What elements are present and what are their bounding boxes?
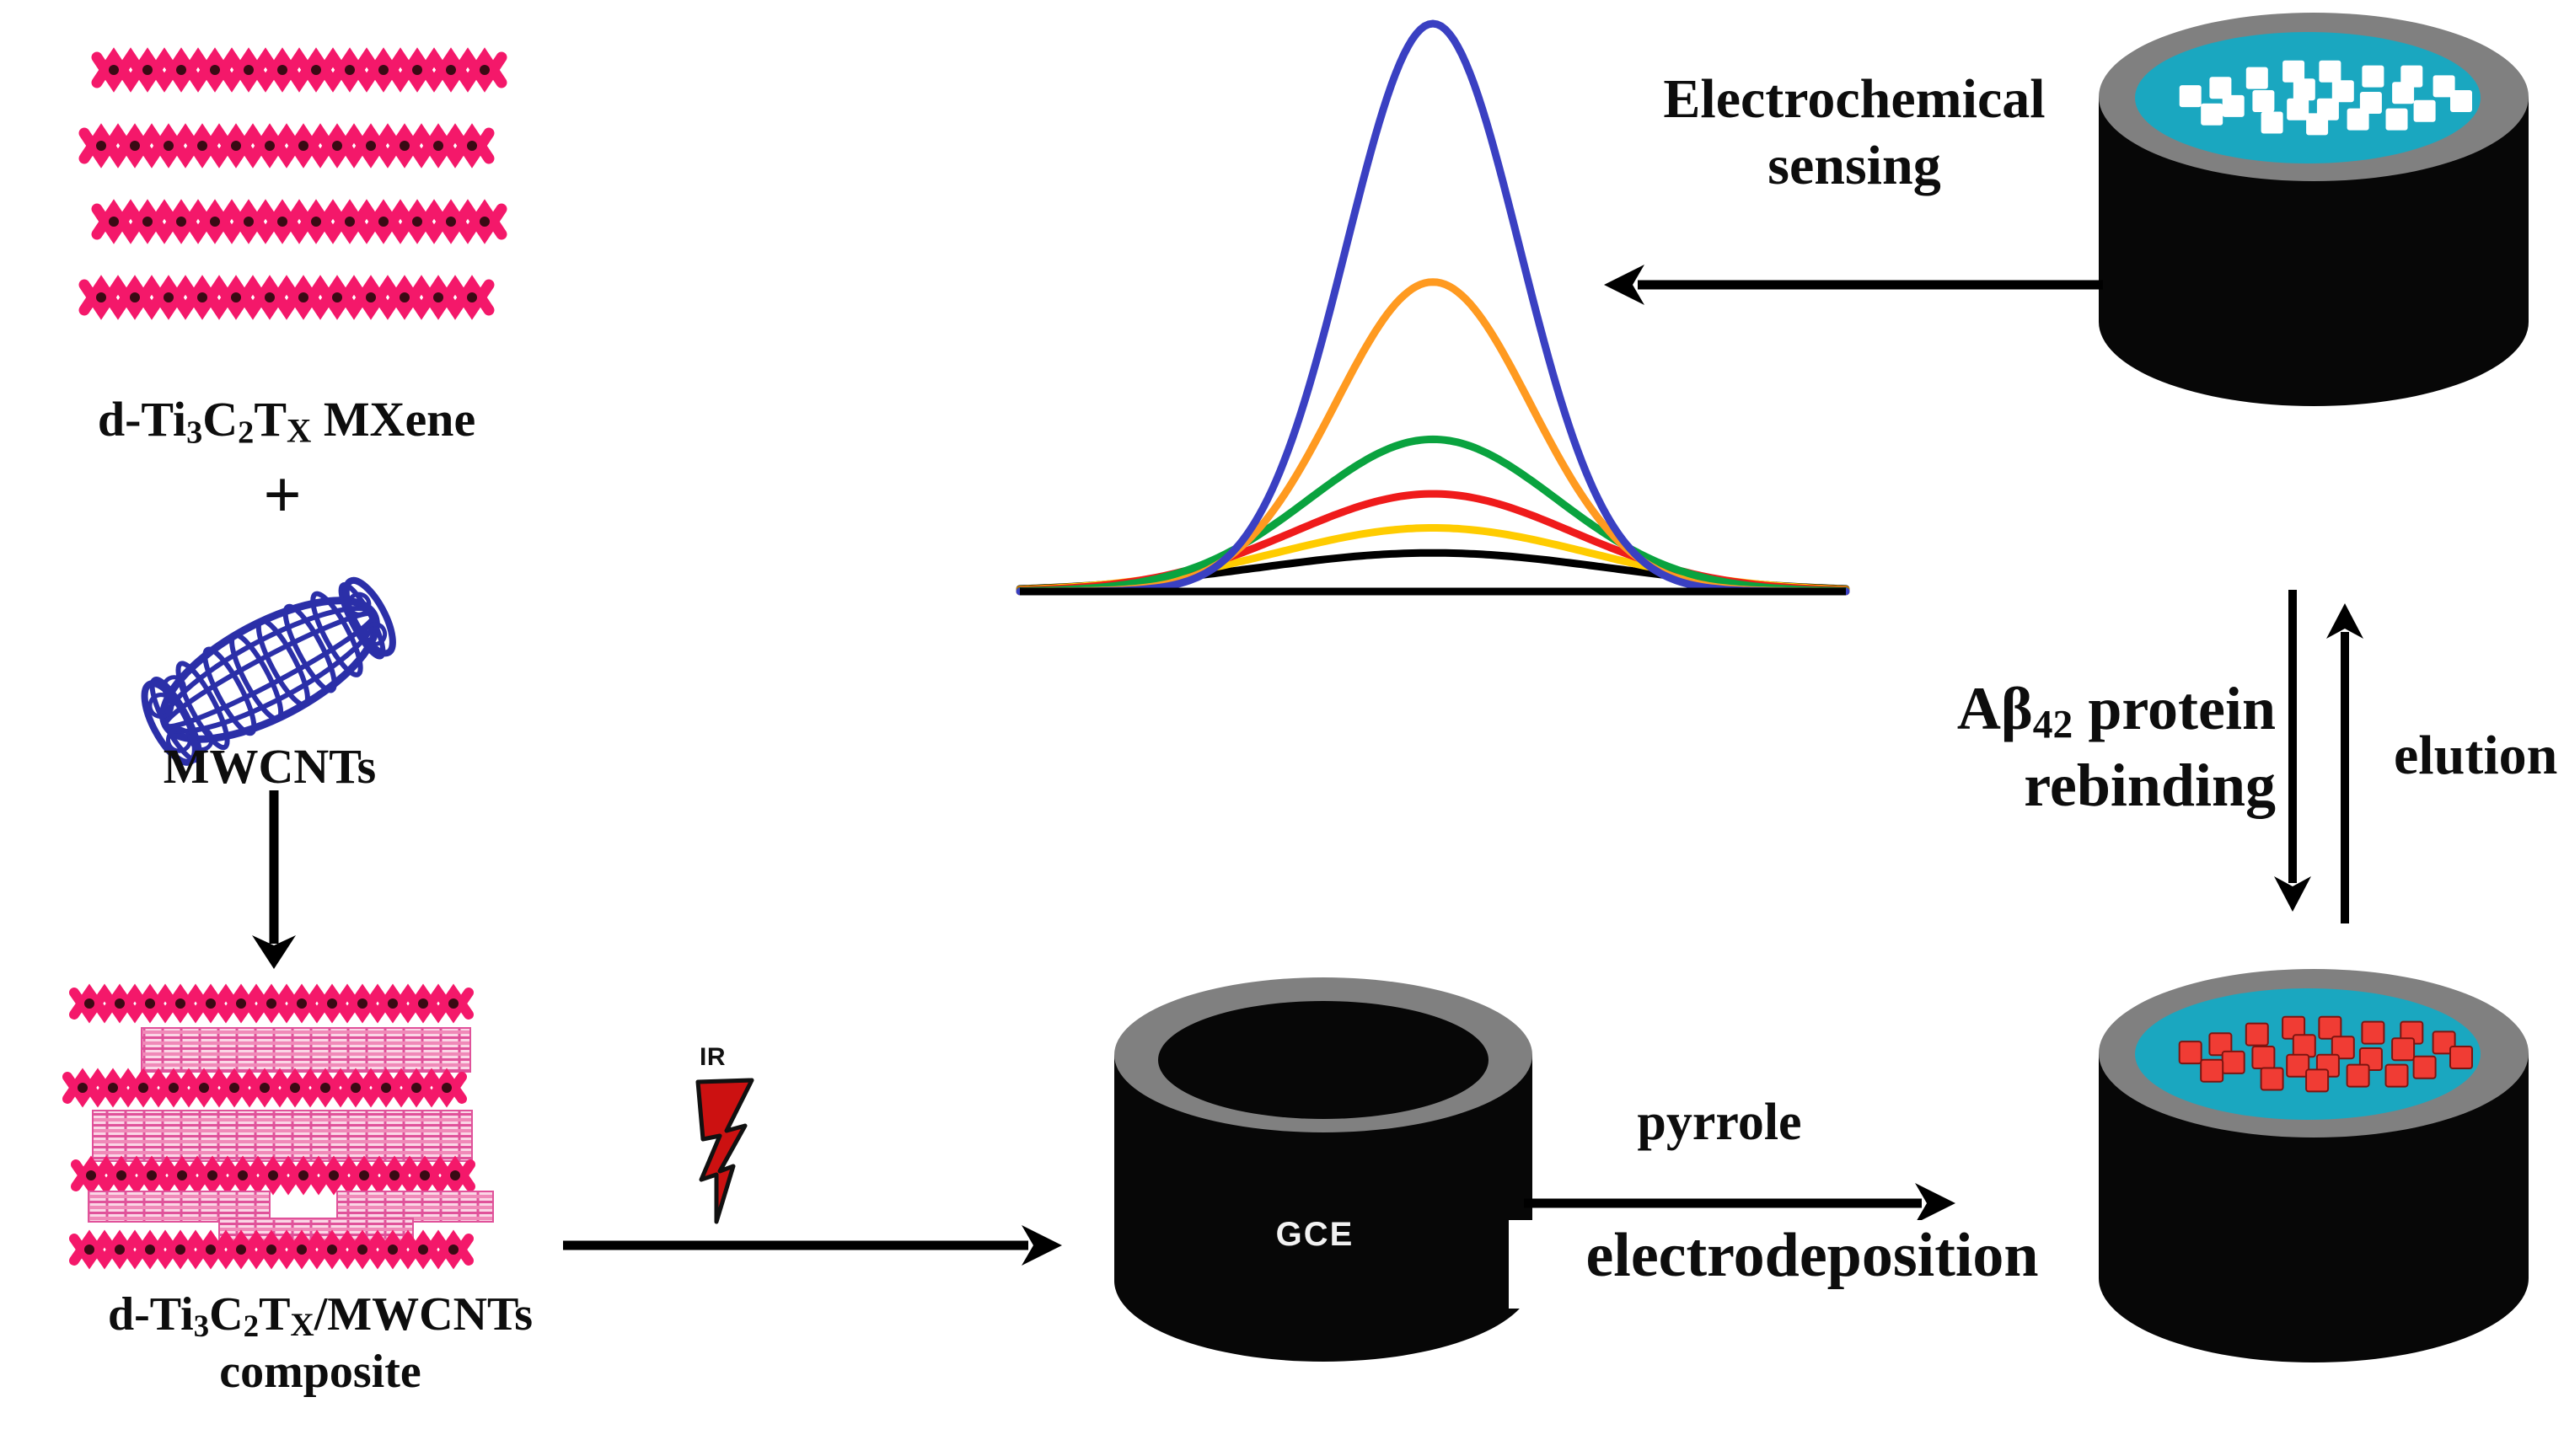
curve-4-red [1020, 494, 1846, 590]
protein-square [2252, 1046, 2274, 1068]
elution-label: elution [2394, 726, 2564, 784]
pyrrole-label: pyrrole [1542, 1095, 1896, 1150]
mxene-label: d-Ti3C2TX MXene [17, 394, 556, 450]
imprinted-cavity-square [2287, 99, 2309, 120]
imprinted-cavity-square [2252, 90, 2274, 112]
rebinding-label-line1: Aβ42 protein [1854, 672, 2276, 749]
protein-square [2246, 1024, 2268, 1046]
curve-1-blue [1020, 24, 1846, 591]
imprinted-cavity-square [2246, 67, 2268, 89]
imprinted-cavity-square [2392, 82, 2414, 104]
rebinding-label-line2: rebinding [1854, 749, 2276, 822]
protein-square [2450, 1046, 2472, 1068]
imprinted-cavity-square [2414, 100, 2436, 122]
imprinted-cavity-square [2223, 95, 2245, 117]
ir-lightning-bolt-icon [683, 1072, 792, 1232]
imprinted-cavity-square [2319, 61, 2341, 83]
protein-square [2261, 1068, 2283, 1090]
elution-up-arrow [2326, 603, 2363, 923]
ir-process-arrow [556, 1213, 1079, 1281]
mxene-label-text: d-Ti3C2TX MXene [98, 392, 475, 447]
protein-square [2180, 1041, 2202, 1063]
composite-label: d-Ti3C2TX/MWCNTs composite [0, 1287, 641, 1399]
voltammogram-chart [1003, 8, 1880, 615]
ir-label: IR [700, 1043, 775, 1072]
electrodeposition-label: electrodeposition [1509, 1223, 2116, 1289]
gce-text: GCE [1276, 1216, 1354, 1253]
protein-square [2362, 1022, 2384, 1044]
composite-label-line2: composite [0, 1345, 641, 1399]
composite-structure-illustration [42, 977, 565, 1281]
protein-square [2223, 1052, 2245, 1073]
protein-bound-electrode [2090, 965, 2537, 1403]
rebinding-down-arrow [2274, 590, 2311, 912]
protein-square [2392, 1038, 2414, 1060]
imprinted-cavity-square [2362, 66, 2384, 88]
protein-square [2414, 1057, 2436, 1079]
plus-sign: + [232, 462, 333, 529]
protein-square [2306, 1069, 2328, 1091]
diagram-canvas: d-Ti3C2TX MXene + [0, 0, 2564, 1456]
protein-square [2347, 1065, 2369, 1087]
synthesis-down-arrow [215, 784, 333, 977]
imprinted-cavity-square [2293, 78, 2315, 100]
bare-gce-electrode: GCE [1104, 977, 1542, 1399]
imprinted-cavity-square [2450, 90, 2472, 112]
imprinted-cavity-square [2347, 109, 2369, 131]
voltammogram-curves [1020, 24, 1846, 591]
curve-3-green [1020, 439, 1846, 591]
protein-square [2386, 1065, 2408, 1087]
mwcnt-illustration [126, 573, 413, 767]
mxene-structure-illustration [51, 34, 573, 371]
imprinted-cavity-square [2306, 113, 2328, 135]
imprinted-cavities-electrode [2090, 8, 2537, 447]
composite-label-line1: d-Ti3C2TX/MWCNTs [0, 1287, 641, 1345]
protein-square [2319, 1017, 2341, 1039]
imprinted-cavity-square [2180, 85, 2202, 107]
imprinted-cavity-square [2201, 104, 2223, 126]
protein-square [2293, 1035, 2315, 1057]
rebinding-label: Aβ42 protein rebinding [1854, 672, 2276, 822]
imprinted-cavity-square [2261, 112, 2283, 134]
imprinted-cavity-square [2386, 109, 2408, 131]
protein-square [2201, 1060, 2223, 1082]
